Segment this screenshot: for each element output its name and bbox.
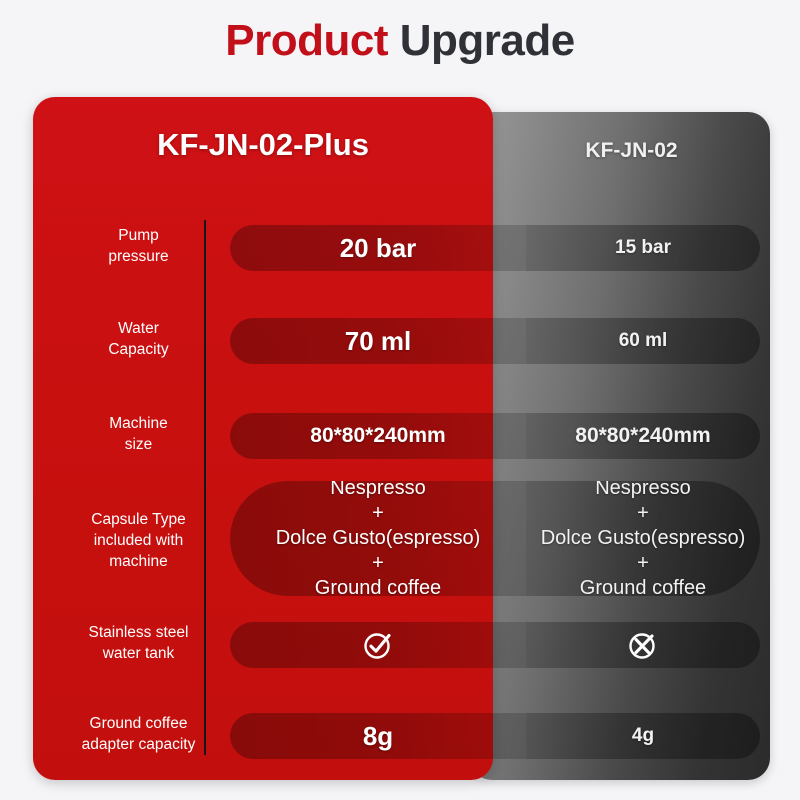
- row-label-line: Capsule Type: [56, 509, 221, 530]
- value-text-new: 80*80*240mm: [310, 424, 445, 448]
- value-cell-old: 60 ml: [526, 318, 760, 364]
- value-cell-old: 4g: [526, 713, 760, 759]
- row-label: Machine size: [56, 413, 221, 455]
- value-cell-new: 8g: [230, 713, 526, 759]
- value-cell-old: Nespresso + Dolce Gusto(espresso) + Grou…: [526, 481, 760, 596]
- row-label: Water Capacity: [56, 318, 221, 360]
- value-text-old: 15 bar: [615, 237, 671, 259]
- column-divider: [204, 220, 206, 755]
- row-label-line: Stainless steel: [56, 622, 221, 643]
- value-text-new: 20 bar: [340, 233, 417, 264]
- row-label-line: machine: [56, 551, 221, 572]
- row-label-line: pressure: [56, 246, 221, 267]
- value-cell-old: 80*80*240mm: [526, 413, 760, 459]
- value-text-old: 80*80*240mm: [575, 424, 710, 448]
- row-value-pill: [230, 622, 760, 668]
- value-text-new: 8g: [363, 721, 393, 752]
- value-text-old: Nespresso + Dolce Gusto(espresso) + Grou…: [541, 481, 746, 596]
- row-label-line: Machine: [56, 413, 221, 434]
- x-circle-icon: [626, 628, 660, 662]
- value-text-new: Nespresso + Dolce Gusto(espresso) + Grou…: [276, 481, 481, 596]
- row-label: Ground coffee adapter capacity: [56, 713, 221, 755]
- value-cell-new: Nespresso + Dolce Gusto(espresso) + Grou…: [230, 481, 526, 596]
- check-circle-icon: [361, 628, 395, 662]
- value-cell-old: 15 bar: [526, 225, 760, 271]
- row-value-pill: 8g 4g: [230, 713, 760, 759]
- comparison-table: KF-JN-02-Plus KF-JN-02 Pump pressure 20 …: [0, 0, 800, 800]
- column-header-old: KF-JN-02: [493, 139, 770, 163]
- row-label-line: water tank: [56, 643, 221, 664]
- value-cell-old: [526, 622, 760, 668]
- row-value-pill: 80*80*240mm 80*80*240mm: [230, 413, 760, 459]
- value-cell-new: 70 ml: [230, 318, 526, 364]
- row-label-line: included with: [56, 530, 221, 551]
- row-label-line: Pump: [56, 225, 221, 246]
- row-value-pill: 20 bar 15 bar: [230, 225, 760, 271]
- value-text-old: 4g: [632, 725, 654, 747]
- value-cell-new: [230, 622, 526, 668]
- row-label: Stainless steel water tank: [56, 622, 221, 664]
- value-cell-new: 80*80*240mm: [230, 413, 526, 459]
- value-text-new: 70 ml: [345, 326, 412, 357]
- row-value-pill: 70 ml 60 ml: [230, 318, 760, 364]
- row-label: Capsule Type included with machine: [56, 509, 221, 572]
- row-label-line: Water: [56, 318, 221, 339]
- row-label: Pump pressure: [56, 225, 221, 267]
- row-value-pill: Nespresso + Dolce Gusto(espresso) + Grou…: [230, 481, 760, 596]
- column-header-new: KF-JN-02-Plus: [33, 127, 493, 163]
- row-label-line: size: [56, 434, 221, 455]
- row-label-line: adapter capacity: [56, 734, 221, 755]
- row-label-line: Capacity: [56, 339, 221, 360]
- row-label-line: Ground coffee: [56, 713, 221, 734]
- value-cell-new: 20 bar: [230, 225, 526, 271]
- value-text-old: 60 ml: [619, 330, 668, 352]
